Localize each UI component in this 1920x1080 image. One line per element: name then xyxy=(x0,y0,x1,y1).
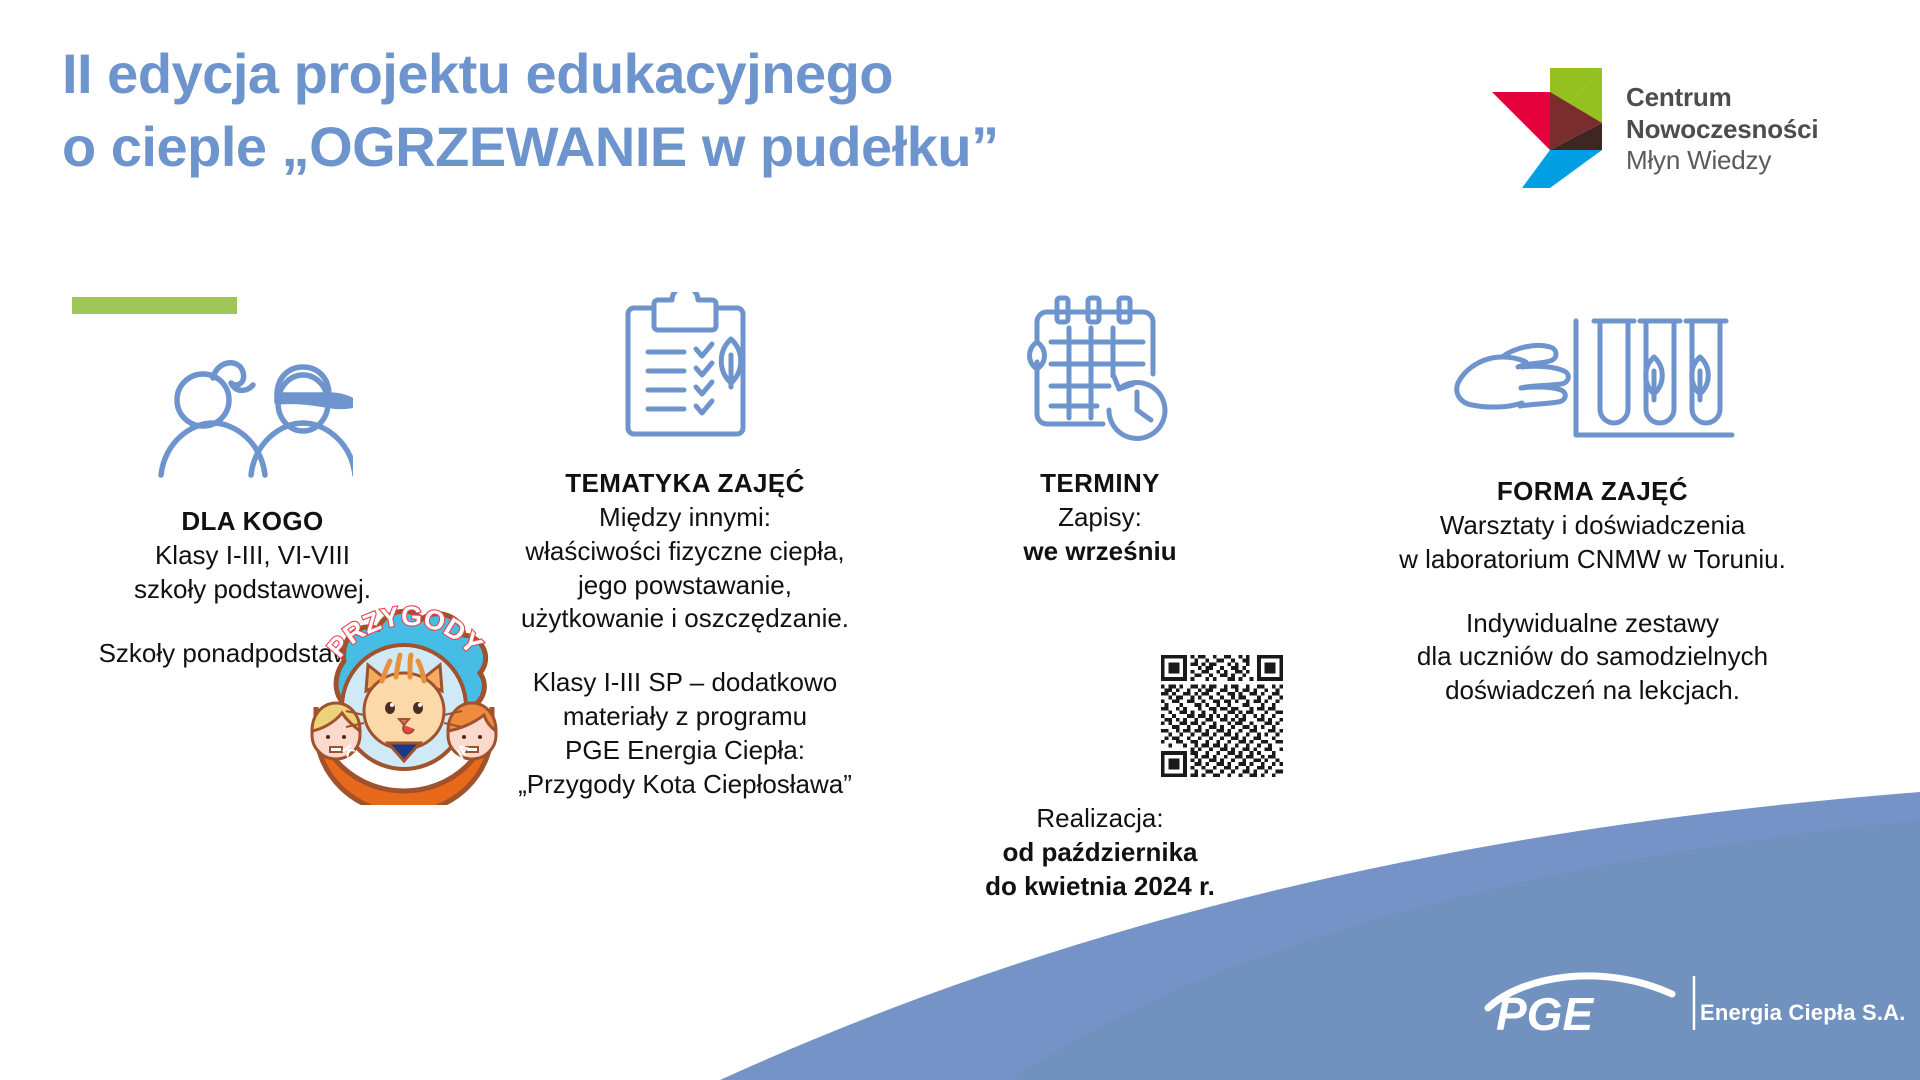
column-body-line: w laboratorium CNMW w Toruniu. xyxy=(1265,543,1920,577)
pge-wordmark: PGE xyxy=(1496,988,1594,1038)
page-title-line-2: o cieple „OGRZEWANIE w pudełku” xyxy=(62,111,1382,184)
column-body-line: Indywidualne zestawy xyxy=(1265,607,1920,641)
column-heading: FORMA ZAJĘĆ xyxy=(1265,476,1920,507)
hand-test-tubes-icon-wrap xyxy=(1265,300,1920,450)
cnmw-logo: Centrum Nowoczesności Młyn Wiedzy xyxy=(1492,68,1862,188)
cnmw-pinwheel-icon xyxy=(1492,68,1610,188)
column-body: Zapisy: we wrześniu xyxy=(905,501,1295,569)
page-title-line-1: II edycja projektu edukacyjnego xyxy=(62,38,1382,111)
info-column-terminy: TERMINY Zapisy: we wrześniu xyxy=(905,292,1295,569)
clipboard-checklist-icon-wrap xyxy=(405,292,965,442)
column-body: Warsztaty i doświadczenia w laboratorium… xyxy=(1265,509,1920,577)
title-underline-rule xyxy=(72,297,237,314)
cnmw-logo-line-1: Centrum xyxy=(1626,82,1818,114)
column-body-line: Zapisy: xyxy=(905,501,1295,535)
column-body-secondary: Indywidualne zestawy dla uczniów do samo… xyxy=(1265,607,1920,708)
page-title: II edycja projektu edukacyjnego o cieple… xyxy=(62,38,1382,184)
hand-test-tubes-icon xyxy=(1448,305,1738,450)
calendar-clock-icon xyxy=(1025,292,1175,442)
cnmw-logo-text: Centrum Nowoczesności Młyn Wiedzy xyxy=(1626,82,1818,177)
info-column-forma-zajec: FORMA ZAJĘĆ Warsztaty i doświadczenia w … xyxy=(1265,300,1920,708)
two-people-icon xyxy=(153,345,353,480)
clipboard-checklist-icon xyxy=(618,292,753,442)
column-body-line: właściwości fizyczne ciepła, xyxy=(405,535,965,569)
column-body-line: dla uczniów do samodzielnych xyxy=(1265,640,1920,674)
pge-subtitle: Energia Ciepła S.A. xyxy=(1700,1000,1906,1026)
calendar-clock-icon-wrap xyxy=(905,292,1295,442)
cnmw-logo-line-2: Nowoczesności xyxy=(1626,114,1818,146)
column-body-line: Warsztaty i doświadczenia xyxy=(1265,509,1920,543)
column-body-line-bold: we wrześniu xyxy=(905,535,1295,569)
column-body-line: Między innymi: xyxy=(405,501,965,535)
poster-canvas: II edycja projektu edukacyjnego o cieple… xyxy=(0,0,1920,1080)
cnmw-logo-line-3: Młyn Wiedzy xyxy=(1626,145,1818,177)
column-heading: TEMATYKA ZAJĘĆ xyxy=(405,468,965,499)
column-heading: TERMINY xyxy=(905,468,1295,499)
